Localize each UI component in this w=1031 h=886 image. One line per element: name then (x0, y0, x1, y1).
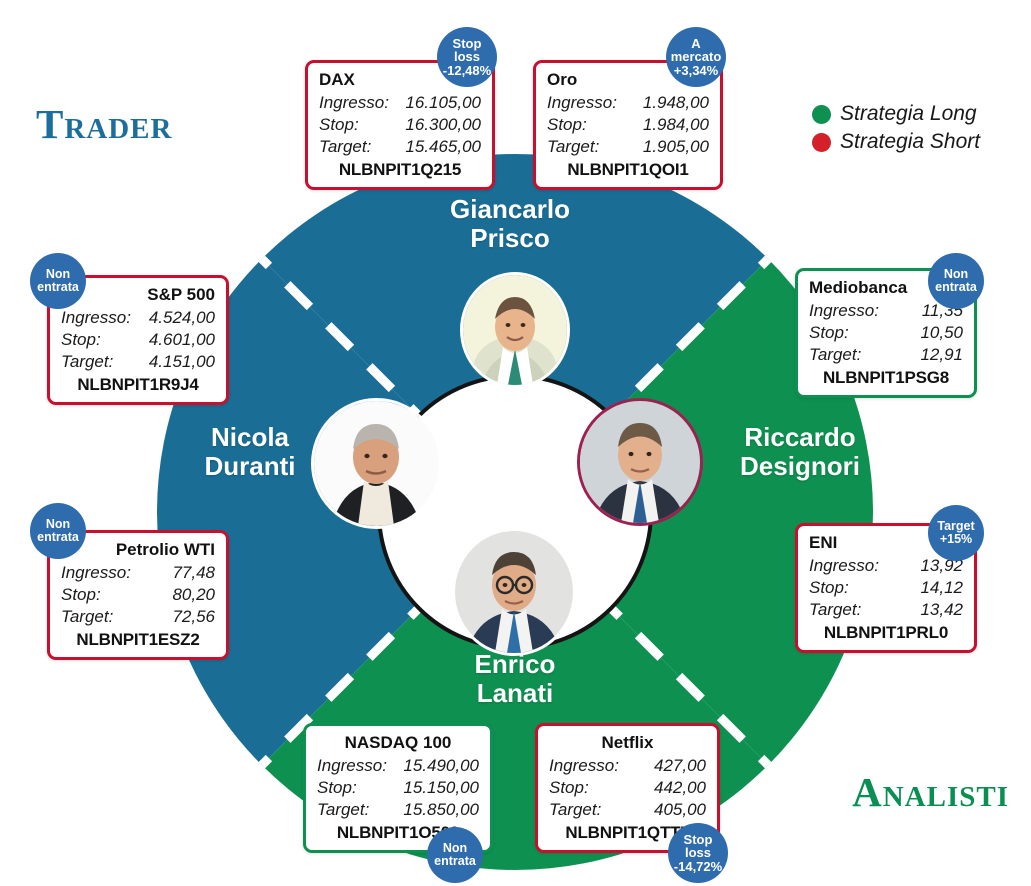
card-values: Ingresso:4.524,00 Stop:4.601,00 Target:4… (61, 307, 215, 372)
card-isin-code: NLBNPIT1ESZ2 (61, 630, 215, 650)
card-values: Ingresso:427,00 Stop:442,00 Target:405,0… (549, 755, 706, 820)
status-badge-oro: A mercato +3,34% (666, 27, 726, 87)
row-label: Target: (809, 344, 873, 366)
row-label: Ingresso: (809, 555, 891, 577)
row-label: Ingresso: (319, 92, 401, 114)
row-target: Target:12,91 (809, 344, 963, 366)
row-target: Target:405,00 (549, 799, 706, 821)
infographic-canvas: Trader Analisti Strategia Long Strategia… (0, 0, 1031, 886)
person-name-riccardo-designori: Riccardo Designori (700, 423, 900, 481)
row-label: Ingresso: (549, 755, 631, 777)
row-label: Stop: (319, 114, 371, 136)
avatar-giancarlo-prisco (460, 272, 570, 388)
row-label: Ingresso: (61, 307, 143, 329)
status-badge-petrolio-wti: Non entrata (30, 503, 86, 559)
row-label: Ingresso: (809, 300, 891, 322)
row-value: 10,50 (920, 322, 963, 344)
row-ingresso: Ingresso:1.948,00 (547, 92, 709, 114)
status-badge-mediobanca: Non entrata (928, 253, 984, 309)
row-value: 15.465,00 (405, 136, 481, 158)
row-stop: Stop:14,12 (809, 577, 963, 599)
row-label: Stop: (61, 584, 113, 606)
row-value: 427,00 (654, 755, 706, 777)
status-badge-sp500: Non entrata (30, 253, 86, 309)
card-isin-code: NLBNPIT1Q215 (319, 160, 481, 180)
row-stop: Stop:4.601,00 (61, 329, 215, 351)
card-title: NASDAQ 100 (317, 733, 479, 753)
card-title: Petrolio WTI (61, 540, 215, 560)
page-title-trader: Trader (36, 100, 172, 148)
card-values: Ingresso:11,35 Stop:10,50 Target:12,91 (809, 300, 963, 365)
row-ingresso: Ingresso:15.490,00 (317, 755, 479, 777)
row-label: Stop: (61, 329, 113, 351)
row-label: Ingresso: (61, 562, 143, 584)
row-value: 16.105,00 (405, 92, 481, 114)
status-badge-dax: Stop loss -12,48% (437, 27, 497, 87)
legend-item-short: Strategia Short (812, 128, 980, 156)
row-value: 15.850,00 (403, 799, 479, 821)
row-value: 16.300,00 (405, 114, 481, 136)
row-label: Stop: (549, 777, 601, 799)
row-target: Target:13,42 (809, 599, 963, 621)
card-values: Ingresso:15.490,00 Stop:15.150,00 Target… (317, 755, 479, 820)
row-stop: Stop:1.984,00 (547, 114, 709, 136)
circle-icon-short (812, 133, 831, 152)
row-label: Target: (61, 351, 125, 373)
row-label: Target: (549, 799, 613, 821)
row-target: Target:72,56 (61, 606, 215, 628)
card-isin-code: NLBNPIT1PSG8 (809, 368, 963, 388)
row-ingresso: Ingresso:4.524,00 (61, 307, 215, 329)
row-value: 12,91 (920, 344, 963, 366)
row-stop: Stop:10,50 (809, 322, 963, 344)
row-label: Stop: (809, 322, 861, 344)
card-isin-code: NLBNPIT1QOI1 (547, 160, 709, 180)
row-ingresso: Ingresso:427,00 (549, 755, 706, 777)
row-value: 4.601,00 (149, 329, 215, 351)
legend-item-long: Strategia Long (812, 100, 980, 128)
card-values: Ingresso:77,48 Stop:80,20 Target:72,56 (61, 562, 215, 627)
row-target: Target:15.465,00 (319, 136, 481, 158)
card-values: Ingresso:13,92 Stop:14,12 Target:13,42 (809, 555, 963, 620)
page-title-analisti: Analisti (852, 768, 1009, 816)
legend: Strategia Long Strategia Short (812, 100, 980, 156)
legend-label-long: Strategia Long (840, 102, 977, 126)
row-stop: Stop:16.300,00 (319, 114, 481, 136)
status-badge-nasdaq-100: Non entrata (427, 827, 483, 883)
row-target: Target:4.151,00 (61, 351, 215, 373)
row-value: 15.150,00 (403, 777, 479, 799)
row-value: 4.524,00 (149, 307, 215, 329)
row-ingresso: Ingresso:13,92 (809, 555, 963, 577)
card-isin-code: NLBNPIT1PRL0 (809, 623, 963, 643)
avatar-enrico-lanati (452, 528, 576, 656)
status-badge-eni: Target +15% (928, 505, 984, 561)
row-value: 77,48 (172, 562, 215, 584)
row-label: Target: (317, 799, 381, 821)
row-label: Target: (547, 136, 611, 158)
row-value: 72,56 (172, 606, 215, 628)
row-value: 442,00 (654, 777, 706, 799)
card-title: Netflix (549, 733, 706, 753)
row-stop: Stop:80,20 (61, 584, 215, 606)
row-label: Stop: (547, 114, 599, 136)
row-label: Target: (809, 599, 873, 621)
status-badge-netflix: Stop loss -14,72% (668, 823, 728, 883)
row-label: Ingresso: (317, 755, 399, 777)
row-value: 80,20 (172, 584, 215, 606)
row-ingresso: Ingresso:16.105,00 (319, 92, 481, 114)
avatar-riccardo-designori (577, 398, 703, 526)
person-name-giancarlo-prisco: Giancarlo Prisco (420, 195, 600, 253)
circle-icon-long (812, 105, 831, 124)
row-stop: Stop:442,00 (549, 777, 706, 799)
row-target: Target:15.850,00 (317, 799, 479, 821)
card-values: Ingresso:16.105,00 Stop:16.300,00 Target… (319, 92, 481, 157)
legend-label-short: Strategia Short (840, 130, 980, 154)
row-value: 1.948,00 (643, 92, 709, 114)
card-values: Ingresso:1.948,00 Stop:1.984,00 Target:1… (547, 92, 709, 157)
row-label: Target: (319, 136, 383, 158)
avatar-nicola-duranti (311, 398, 442, 529)
row-value: 14,12 (920, 577, 963, 599)
row-label: Target: (61, 606, 125, 628)
row-value: 13,42 (920, 599, 963, 621)
row-target: Target:1.905,00 (547, 136, 709, 158)
row-value: 1.905,00 (643, 136, 709, 158)
person-name-enrico-lanati: Enrico Lanati (425, 650, 605, 708)
row-label: Ingresso: (547, 92, 629, 114)
row-label: Stop: (317, 777, 369, 799)
row-ingresso: Ingresso:77,48 (61, 562, 215, 584)
row-stop: Stop:15.150,00 (317, 777, 479, 799)
row-value: 405,00 (654, 799, 706, 821)
row-value: 15.490,00 (403, 755, 479, 777)
row-value: 4.151,00 (149, 351, 215, 373)
row-value: 1.984,00 (643, 114, 709, 136)
card-isin-code: NLBNPIT1R9J4 (61, 375, 215, 395)
row-label: Stop: (809, 577, 861, 599)
